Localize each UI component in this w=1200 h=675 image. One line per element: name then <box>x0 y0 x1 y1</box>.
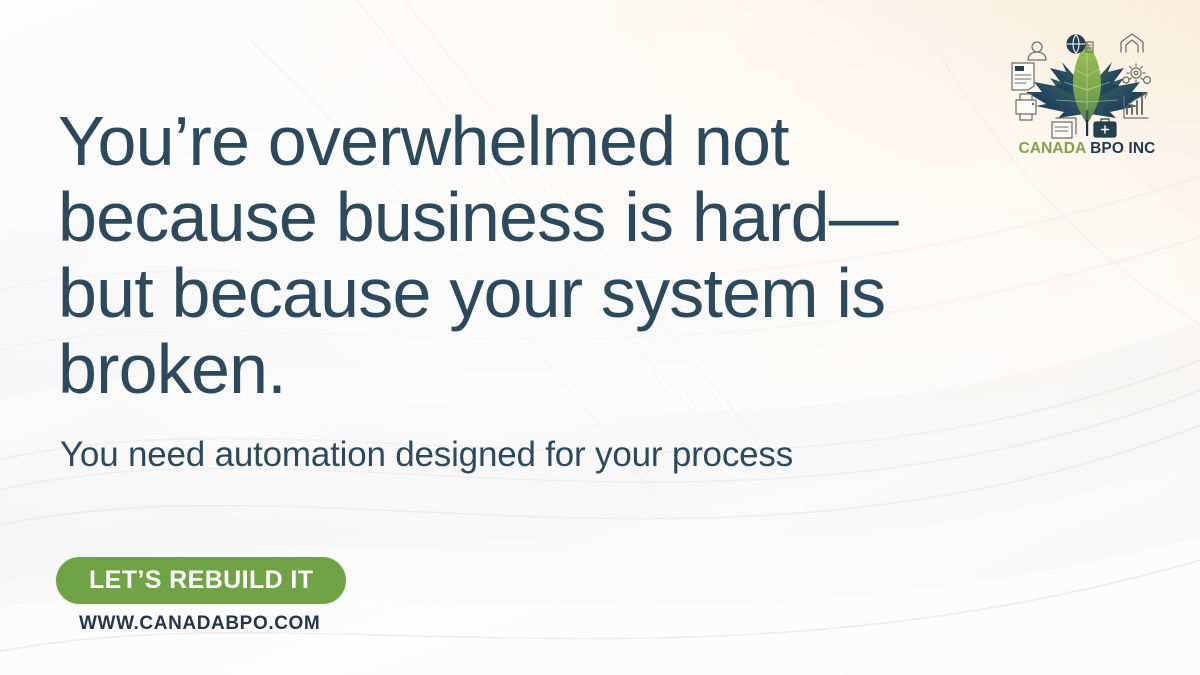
brand-wordmark: CANADA BPO INC <box>1006 140 1168 158</box>
gears-settings-icon <box>1123 64 1150 83</box>
printer-icon <box>1016 94 1036 120</box>
person-icon <box>1028 42 1046 60</box>
headline-line-1: You’re overwhelmed not <box>58 103 978 179</box>
lets-rebuild-it-button[interactable]: LET’S REBUILD IT <box>56 557 346 604</box>
brand-word-bpo-inc: BPO INC <box>1086 140 1156 157</box>
poster-canvas: You’re overwhelmed not because business … <box>0 0 1200 675</box>
headline-line-4: broken. <box>58 331 978 407</box>
subheadline: You need automation designed for your pr… <box>60 433 793 477</box>
cta-group: LET’S REBUILD IT WWW.CANADABPO.COM <box>56 557 346 635</box>
headline: You’re overwhelmed not because business … <box>58 103 978 407</box>
house-icon <box>1121 34 1143 52</box>
brand-logo[interactable]: CANADA BPO INC <box>1006 28 1168 168</box>
invoice-document-icon <box>1012 63 1034 90</box>
maple-leaf-icon <box>1026 42 1148 136</box>
headline-line-2: because business is hard— <box>58 179 978 255</box>
documents-stack-icon <box>1052 118 1076 138</box>
headline-line-3: but because your system is <box>58 255 978 331</box>
website-url[interactable]: WWW.CANADABPO.COM <box>79 613 346 635</box>
briefcase-medical-icon <box>1094 119 1116 137</box>
brand-word-canada: CANADA <box>1019 140 1086 157</box>
logo-mark <box>1006 28 1168 140</box>
